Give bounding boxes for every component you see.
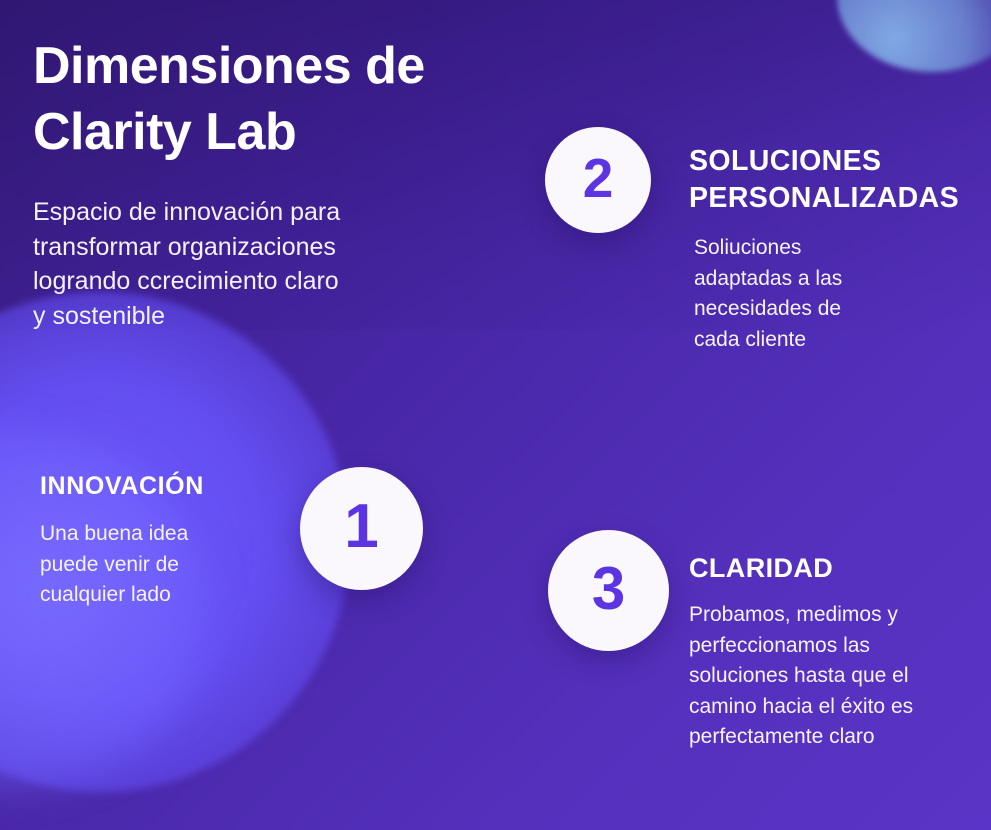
feature-block-claridad: CLARIDAD Probamos, medimos y perfecciona… bbox=[689, 551, 991, 753]
infographic-poster: Dimensiones de Clarity Lab Espacio de in… bbox=[0, 0, 991, 830]
hero-section: Dimensiones de Clarity Lab Espacio de in… bbox=[33, 33, 533, 333]
feature-body-soluciones-personalizadas: Soliuciones adaptadas a las necesidades … bbox=[694, 233, 989, 355]
feature-block-innovacion: INNOVACIÓN Una buena idea puede venir de… bbox=[40, 469, 290, 611]
number-badge-2-label: 2 bbox=[583, 151, 614, 206]
feature-body-innovacion: Una buena idea puede venir de cualquier … bbox=[40, 519, 290, 611]
feature-block-soluciones-personalizadas: SOLUCIONES PERSONALIZADAS Soliuciones ad… bbox=[689, 143, 989, 355]
number-badge-1: 1 bbox=[300, 467, 423, 590]
page-title: Dimensiones de Clarity Lab bbox=[33, 33, 533, 165]
number-badge-1-label: 1 bbox=[344, 496, 378, 558]
feature-heading-claridad: CLARIDAD bbox=[689, 551, 991, 585]
number-badge-3: 3 bbox=[548, 530, 669, 651]
feature-heading-soluciones-personalizadas: SOLUCIONES PERSONALIZADAS bbox=[689, 143, 989, 217]
number-badge-2: 2 bbox=[545, 127, 651, 233]
feature-body-claridad: Probamos, medimos y perfeccionamos las s… bbox=[689, 600, 991, 753]
page-subtitle: Espacio de innovación para transformar o… bbox=[33, 195, 533, 333]
feature-heading-innovacion: INNOVACIÓN bbox=[40, 469, 290, 503]
blue-corner-blob bbox=[837, 0, 991, 72]
number-badge-3-label: 3 bbox=[592, 559, 625, 619]
